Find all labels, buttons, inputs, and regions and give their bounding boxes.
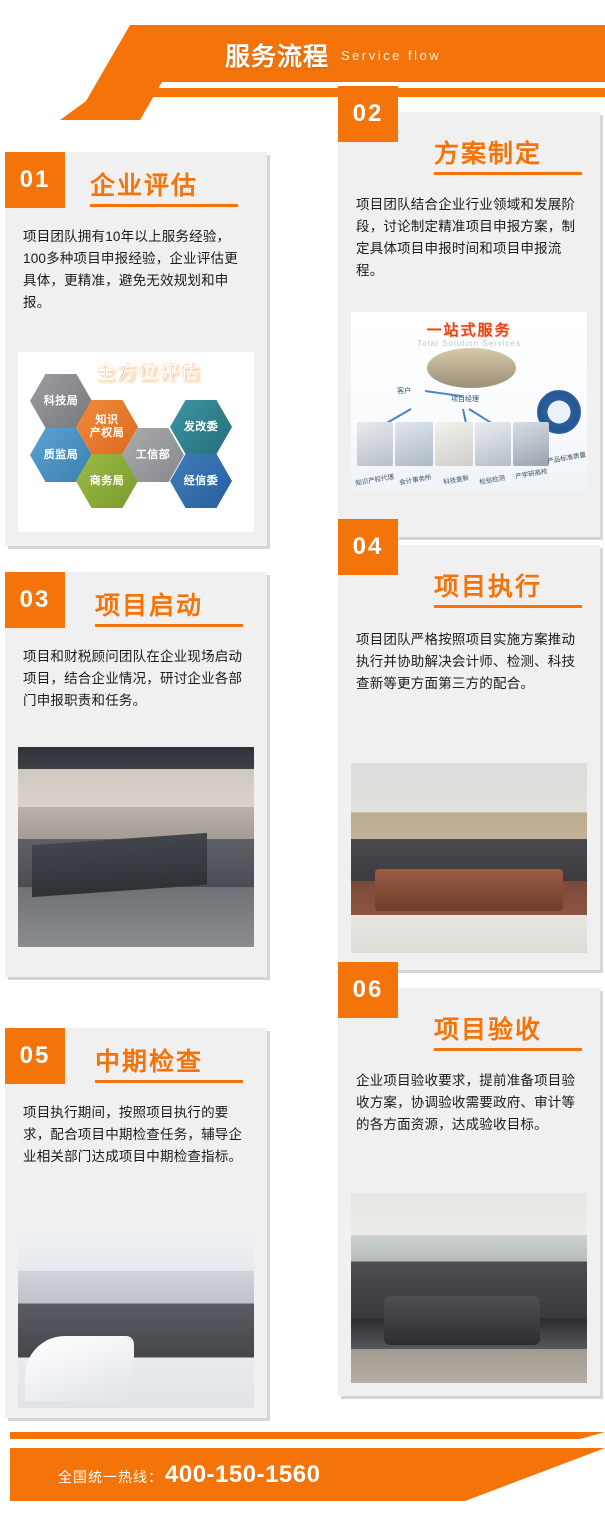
service-hero-photo [427, 348, 517, 388]
step-card-06: 06 项目验收 企业项目验收要求，提前准备项目验收方案，协调验收需要政府、审计等… [338, 988, 600, 1396]
hexagon-fagai: 发改委 [170, 400, 232, 454]
acceptance-meeting-photo [351, 1193, 587, 1383]
step-description: 项目执行期间，按照项目执行的要求，配合项目中期检查任务，辅导企业相关部门达成项目… [23, 1102, 251, 1168]
service-tile-testing [475, 422, 511, 466]
step-title: 项目启动 [95, 586, 203, 622]
hotline-label: 全国统一热线： [58, 1467, 163, 1487]
page-subtitle: Service flow [341, 48, 441, 63]
step-title: 项目执行 [434, 567, 542, 603]
step-number-badge: 06 [338, 962, 398, 1018]
one-stop-service-graphic: 一站式服务 Total Solution Services 客户 项目经理 知识… [351, 312, 587, 492]
service-label-testing: 检验检测 [478, 472, 505, 486]
step-number-badge: 03 [5, 572, 65, 628]
service-node-customer: 客户 [397, 386, 411, 396]
service-tile-ip [357, 422, 393, 466]
service-label-research: 产学研高校 [514, 465, 548, 480]
footer-stripe [10, 1432, 605, 1439]
hotline-group: 全国统一热线： 400-150-1560 [58, 1461, 320, 1489]
step-card-05: 05 中期检查 项目执行期间，按照项目执行的要求，配合项目中期检查任务，辅导企业… [5, 1028, 267, 1418]
step-description: 项目团队拥有10年以上服务经验，100多种项目申报经验，企业评估更具体，更精准，… [23, 226, 251, 313]
step-number-badge: 02 [338, 86, 398, 142]
service-graphic-subcaption: Total Solution Services [351, 339, 587, 348]
step-description: 项目团队严格按照项目实施方案推动执行并协助解决会计师、检测、科技查新等更方面第三… [356, 629, 584, 695]
step-card-01: 01 企业评估 项目团队拥有10年以上服务经验，100多种项目申报经验，企业评估… [5, 152, 267, 546]
header-title-group: 服务流程 Service flow [225, 33, 441, 77]
service-label-accounting: 会计事务所 [398, 471, 432, 486]
title-underline [434, 172, 582, 175]
step-title: 企业评估 [90, 166, 198, 202]
service-tile-accounting [395, 422, 433, 466]
service-label-standard: 产品标准质量 [546, 449, 586, 466]
title-underline [434, 1048, 582, 1051]
step-title: 项目验收 [434, 1010, 542, 1046]
step-number-badge: 04 [338, 519, 398, 575]
execution-meeting-photo [351, 763, 587, 953]
hotline-number[interactable]: 400-150-1560 [165, 1461, 320, 1489]
kickoff-meeting-photo [18, 747, 254, 947]
step-title: 中期检查 [95, 1042, 203, 1078]
service-label-ip: 知识产权代理 [354, 471, 394, 488]
assessment-hexagon-graphic: 全方位评估 科技局 知识 产权局 质监局 商务局 工信部 发改委 经信委 [18, 352, 254, 532]
title-underline [90, 204, 238, 207]
step-title: 方案制定 [434, 134, 542, 170]
page-title: 服务流程 [225, 37, 329, 73]
step-number-badge: 01 [5, 152, 65, 208]
page-footer: 全国统一热线： 400-150-1560 [0, 1430, 605, 1538]
step-description: 项目和财税顾问团队在企业现场启动项目，结合企业情况，研讨企业各部门申报职责和任务… [23, 646, 251, 712]
step-description: 项目团队结合企业行业领域和发展阶段，讨论制定精准项目申报方案，制定具体项目申报时… [356, 194, 584, 281]
step-number-badge: 05 [5, 1028, 65, 1084]
page-header: 服务流程 Service flow [0, 0, 605, 118]
hexagon-graphic-caption: 全方位评估 [96, 357, 201, 384]
service-label-novelty: 科技查新 [442, 472, 469, 486]
step-card-04: 04 项目执行 项目团队严格按照项目实施方案推动执行并协助解决会计师、检测、科技… [338, 545, 600, 970]
title-underline [434, 605, 582, 608]
service-tile-novelty [435, 422, 473, 466]
title-underline [95, 624, 243, 627]
step-card-02: 02 方案制定 项目团队结合企业行业领域和发展阶段，讨论制定精准项目申报方案，制… [338, 112, 600, 537]
midterm-inspection-photo [18, 1228, 254, 1408]
service-graphic-caption: 一站式服务 [351, 319, 587, 340]
service-tile-research [513, 422, 549, 466]
step-description: 企业项目验收要求，提前准备项目验收方案，协调验收需要政府、审计等的各方面资源，达… [356, 1070, 584, 1136]
step-card-03: 03 项目启动 项目和财税顾问团队在企业现场启动项目，结合企业情况，研讨企业各部… [5, 572, 267, 977]
service-arrow-1 [425, 390, 463, 397]
title-underline [95, 1080, 243, 1083]
